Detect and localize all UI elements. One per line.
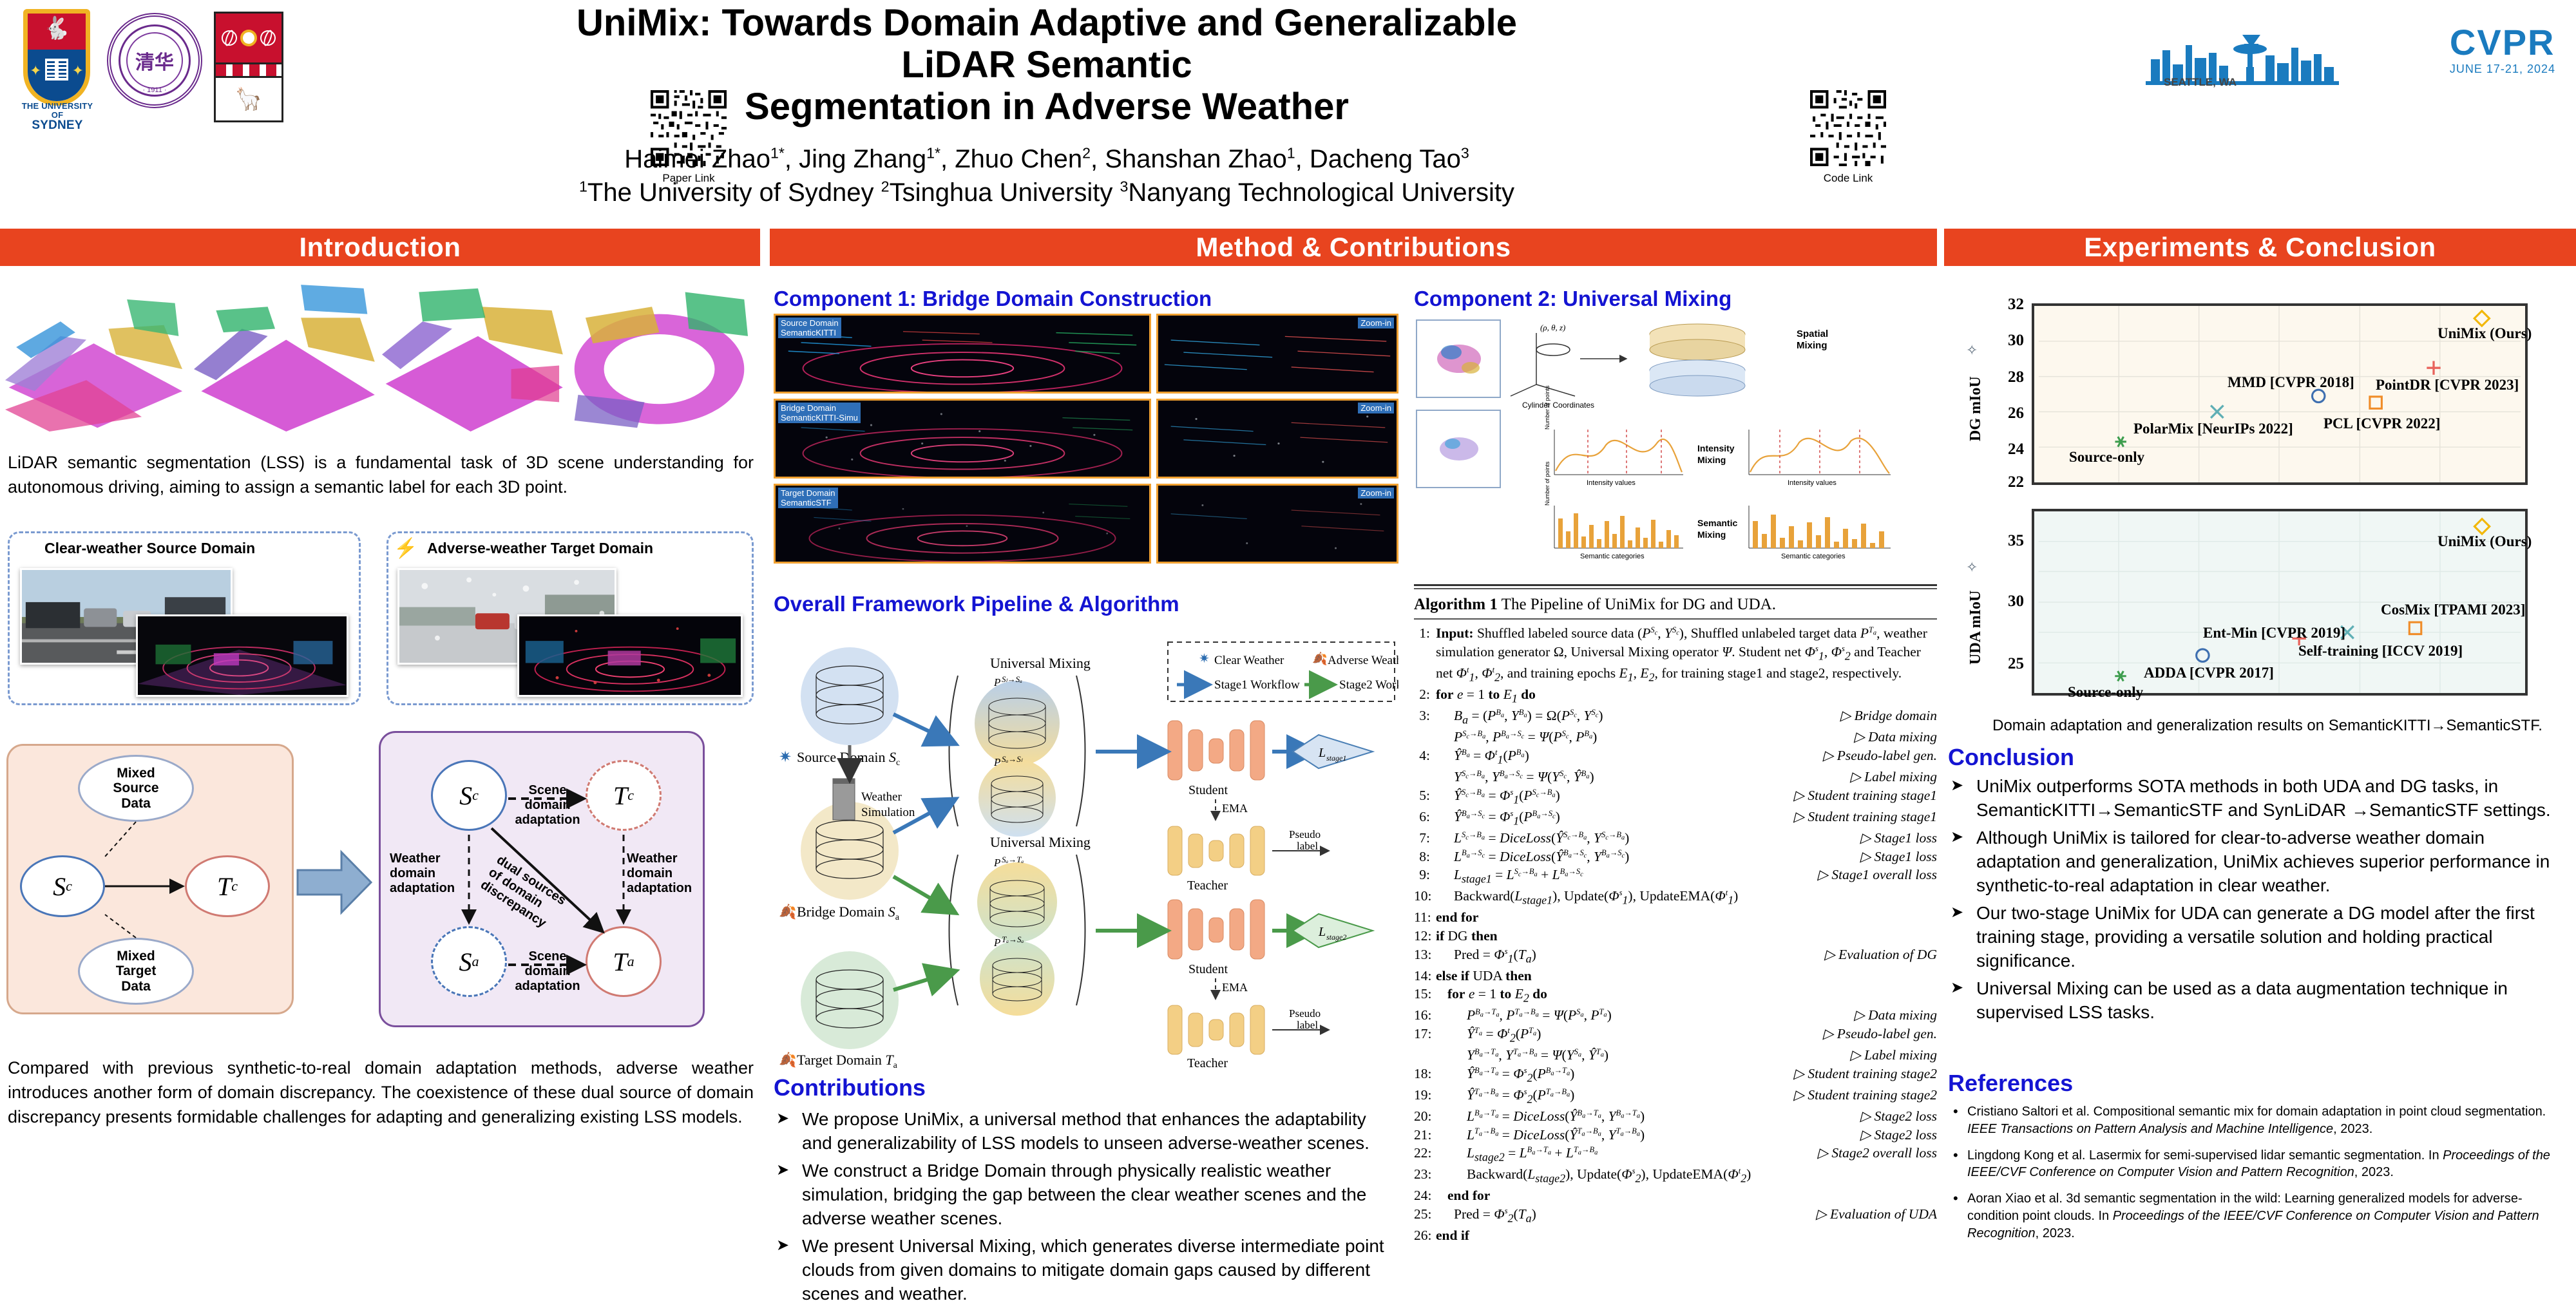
algorithm-line: 25:Pred = Φs2(Ta)▷ Evaluation of UDA bbox=[1414, 1205, 1937, 1226]
uda-ytick-30: 30 bbox=[1990, 593, 2024, 611]
bridge-domain-zoom-tile: Zoom-in bbox=[1156, 399, 1398, 479]
svg-text:🍂: 🍂 bbox=[779, 1052, 796, 1068]
svg-text:Number of points: Number of points bbox=[1544, 461, 1550, 506]
ref-text: Cristiano Saltori et al. Compositional s… bbox=[1967, 1105, 2546, 1119]
svg-text:(ρ, θ, z): (ρ, θ, z) bbox=[1540, 323, 1565, 332]
algorithm-line: 3:Ba = (PBa, YBa) = Ω(PSc, YSc)▷ Bridge … bbox=[1414, 707, 1937, 728]
tsinghua-seal-icon: 清华 bbox=[126, 32, 183, 89]
algorithm-line: 22:Lstage2 = LBa→Ta + LTa→Ba▷ Stage2 ove… bbox=[1414, 1144, 1937, 1165]
cvpr-wordmark: CVPR JUNE 17-21, 2024 bbox=[2450, 24, 2555, 76]
zoom-in-tag-2: Zoom-in bbox=[1358, 403, 1394, 413]
lightning-icon: ⚡ bbox=[394, 537, 417, 560]
svg-text:P: P bbox=[993, 857, 1000, 869]
sydney-shield-icon: 🐇 ✦ ✦ bbox=[23, 9, 90, 106]
pointcloud-strip bbox=[5, 274, 755, 432]
ntu-logo: 🦙 bbox=[214, 12, 283, 122]
sydney-logo-text: THE UNIVERSITY OF SYDNEY bbox=[19, 102, 95, 132]
list-item: Our two-stage UniMix for UDA can generat… bbox=[1948, 902, 2571, 973]
list-item: We propose UniMix, a universal method th… bbox=[774, 1108, 1398, 1155]
svg-text:Universal Mixing: Universal Mixing bbox=[990, 655, 1091, 671]
code-qr-code-icon[interactable] bbox=[1810, 90, 1886, 166]
svg-text:L: L bbox=[1318, 925, 1326, 939]
dual-discrepancy-box: Sc Tc Sa Ta Scene domain adaptation Scen… bbox=[379, 731, 705, 1027]
list-item: Lingdong Kong et al. Lasermix for semi-s… bbox=[1948, 1147, 2571, 1182]
svg-text:P: P bbox=[993, 676, 1000, 688]
right-box-arrows bbox=[381, 733, 707, 1029]
algorithm-line: 24:end for bbox=[1414, 1186, 1937, 1205]
svg-text:Sₐ→Tₐ: Sₐ→Tₐ bbox=[1002, 855, 1024, 864]
dg-label-pointdr: PointDR [CVPR 2023] bbox=[2376, 377, 2519, 394]
list-item: Although UniMix is tailored for clear-to… bbox=[1948, 826, 2571, 898]
list-item: Universal Mixing can be used as a data a… bbox=[1948, 977, 2571, 1025]
pointcloud-sample-1 bbox=[5, 274, 190, 432]
svg-text:Intensity values: Intensity values bbox=[1788, 479, 1837, 487]
banner-method: Method & Contributions bbox=[770, 229, 1937, 266]
algorithm-line: 19:ŶTa→Ba = Φs2(PTa→Ba)▷ Student trainin… bbox=[1414, 1086, 1937, 1107]
algorithm-line: YBa→Ta, YTa→Ba = Ψ(YSa, ŶTa)▷ Label mixi… bbox=[1414, 1046, 1937, 1065]
ntu-crest-icon bbox=[214, 12, 283, 64]
dg-ytick-28: 28 bbox=[1990, 368, 2024, 386]
svg-text:Sₐ→Sₗ: Sₐ→Sₗ bbox=[1002, 754, 1023, 764]
adverse-weather-label: Adverse-weather Target Domain bbox=[427, 540, 653, 557]
svg-text:Weather: Weather bbox=[861, 790, 902, 804]
source-domain-tag: Source DomainSemanticKITTI bbox=[778, 318, 841, 338]
ref-venue: IEEE Transactions on Pattern Analysis an… bbox=[1967, 1122, 2333, 1136]
uda-ytick-25: 25 bbox=[1990, 655, 2024, 673]
ref-year: , 2023. bbox=[2333, 1122, 2372, 1136]
svg-text:Clear Weather: Clear Weather bbox=[1214, 654, 1284, 667]
svg-text:Pseudo: Pseudo bbox=[1289, 828, 1321, 840]
code-qr-caption: Code Link bbox=[1810, 172, 1886, 185]
svg-text:Teacher: Teacher bbox=[1187, 1056, 1228, 1070]
transition-arrow-icon bbox=[296, 847, 372, 918]
tsinghua-year: · 1911 · bbox=[111, 86, 198, 94]
ref-year: , 2023. bbox=[2036, 1226, 2075, 1240]
clear-weather-panel: Clear-weather Source Domain bbox=[8, 531, 361, 705]
algorithm-line: 1: Input: Shuffled labeled source data (… bbox=[1414, 624, 1937, 685]
svg-text:Mixing: Mixing bbox=[1797, 340, 1827, 351]
poster-root: 🐇 ✦ ✦ THE UNIVERSITY OF SYDNEY 清华 · 1911… bbox=[0, 0, 2576, 1288]
algorithm-line: 13:Pred = Φs1(Ta)▷ Evaluation of DG bbox=[1414, 945, 1937, 967]
svg-text:✷: ✷ bbox=[779, 748, 792, 766]
svg-text:Intensity: Intensity bbox=[1697, 443, 1735, 453]
dg-ytick-30: 30 bbox=[1990, 332, 2024, 350]
uda-label-unimix: UniMix (Ours) bbox=[2438, 533, 2532, 550]
algorithm-line: 20:LBa→Ta = DiceLoss(ŶBa→Ta, YBa→Ta)▷ St… bbox=[1414, 1107, 1937, 1126]
framework-pipeline-diagram: Source Domain Sc ✷ Bridge Domain Sa 🍂 Ta… bbox=[774, 625, 1398, 1070]
uda-label-adda: ADDA [CVPR 2017] bbox=[2144, 665, 2274, 681]
svg-text:EMA: EMA bbox=[1222, 981, 1248, 994]
svg-text:Cylinder Coordinates: Cylinder Coordinates bbox=[1522, 401, 1594, 410]
intro-paragraph-1: LiDAR semantic segmentation (LSS) is a f… bbox=[8, 451, 754, 500]
banner-experiments: Experiments & Conclusion bbox=[1944, 229, 2576, 266]
algorithm-line: 2:for e = 1 to E1 do bbox=[1414, 685, 1937, 707]
uda-label-ent-min: Ent-Min [CVPR 2019] bbox=[2203, 625, 2345, 641]
algorithm-box: Algorithm 1 The Pipeline of UniMix for D… bbox=[1414, 584, 1937, 1245]
algorithm-line: 6:ŶBa→Sc = Φs1(PBa→Sc)▷ Student training… bbox=[1414, 808, 1937, 829]
list-item: We present Universal Mixing, which gener… bbox=[774, 1235, 1398, 1306]
svg-text:Sₗ→Sₐ: Sₗ→Sₐ bbox=[1002, 674, 1022, 684]
mixing-diagram: (ρ, θ, z) Cylinder Coordinates Spatial M… bbox=[1414, 314, 1936, 571]
algorithm-line: 12:if DG then bbox=[1414, 927, 1937, 945]
ref-text: Lingdong Kong et al. Lasermix for semi-s… bbox=[1967, 1148, 2443, 1163]
svg-text:Universal Mixing: Universal Mixing bbox=[990, 834, 1091, 850]
pipeline-title: Overall Framework Pipeline & Algorithm bbox=[774, 592, 1179, 616]
clear-photo-lidar bbox=[136, 614, 348, 697]
svg-text:Pseudo: Pseudo bbox=[1289, 1007, 1321, 1020]
zoom-in-tag-3: Zoom-in bbox=[1358, 488, 1394, 498]
svg-text:Number of points: Number of points bbox=[1544, 385, 1550, 430]
adverse-weather-panel: Adverse-weather Target Domain ⚡ bbox=[386, 531, 754, 705]
page-title: UniMix: Towards Domain Adaptive and Gene… bbox=[535, 3, 1559, 128]
domain-discrepancy-diagram: Mixed Source Data Mixed Target Data Sc T… bbox=[6, 725, 754, 1047]
svg-text:Stage1 Workflow: Stage1 Workflow bbox=[1214, 678, 1300, 692]
target-domain-tag: Target DomainSemanticSTF bbox=[778, 488, 838, 508]
svg-text:Mixing: Mixing bbox=[1697, 529, 1726, 540]
contributions-title: Contributions bbox=[774, 1074, 926, 1101]
list-item: Aoran Xiao et al. 3d semantic segmentati… bbox=[1948, 1190, 2571, 1242]
author-list: Haimei Zhao1*, Jing Zhang1*, Zhuo Chen2,… bbox=[535, 144, 1559, 175]
algorithm-line: 5:ŶSc→Ba = Φs1(PSc→Ba)▷ Student training… bbox=[1414, 786, 1937, 808]
conclusion-list: UniMix outperforms SOTA methods in both … bbox=[1948, 775, 2571, 1029]
uda-label-cosmix: CosMix [TPAMI 2023] bbox=[2381, 602, 2525, 618]
algorithm-line: PSc→Ba, PBa→Sc = Ψ(PSc, PBa)▷ Data mixin… bbox=[1414, 728, 1937, 746]
uda-y-axis-label: UDA mIoU bbox=[1967, 591, 1985, 665]
column-method: Component 1: Bridge Domain Construction … bbox=[770, 274, 1937, 1288]
zoom-in-tag-1: Zoom-in bbox=[1358, 318, 1394, 328]
svg-text:Intensity values: Intensity values bbox=[1587, 479, 1636, 487]
svg-text:EMA: EMA bbox=[1222, 802, 1248, 815]
code-qr-block[interactable]: Code Link bbox=[1810, 90, 1886, 185]
cvpr-city: SEATTLE, WA bbox=[2164, 76, 2237, 89]
algorithm-line: 15:for e = 1 to E2 do bbox=[1414, 985, 1937, 1006]
algorithm-line: 21:LTa→Ba = DiceLoss(ŶTa→Ba, YTa→Ba)▷ St… bbox=[1414, 1126, 1937, 1144]
svg-text:L: L bbox=[1318, 746, 1326, 760]
pointcloud-sample-2 bbox=[194, 274, 379, 432]
sydney-logo: 🐇 ✦ ✦ THE UNIVERSITY OF SYDNEY bbox=[19, 5, 95, 128]
algorithm-title: Algorithm 1 The Pipeline of UniMix for D… bbox=[1414, 594, 1937, 615]
clear-weather-label: Clear-weather Source Domain bbox=[44, 540, 255, 557]
previous-setting-box: Mixed Source Data Mixed Target Data Sc T… bbox=[6, 744, 294, 1014]
svg-text:stage1: stage1 bbox=[1326, 754, 1346, 763]
logo-group: 🐇 ✦ ✦ THE UNIVERSITY OF SYDNEY 清华 · 1911… bbox=[19, 5, 283, 128]
pointcloud-sample-3 bbox=[382, 274, 567, 432]
svg-text:Student: Student bbox=[1188, 962, 1228, 976]
svg-text:P: P bbox=[993, 936, 1000, 949]
intro-paragraph-2: Compared with previous synthetic-to-real… bbox=[8, 1056, 754, 1129]
algorithm-line: 23:Backward(Lstage2), Update(Φs2), Updat… bbox=[1414, 1165, 1937, 1186]
svg-text:Tₐ→Sₐ: Tₐ→Sₐ bbox=[1002, 935, 1024, 944]
dg-label-source-only: Source-only bbox=[2069, 449, 2144, 466]
dg-plot-area: Source-only PolarMix [NeurIPs 2022] MMD … bbox=[2032, 303, 2528, 485]
list-item: Cristiano Saltori et al. Compositional s… bbox=[1948, 1103, 2571, 1138]
dg-ytick-26: 26 bbox=[1990, 404, 2024, 422]
algorithm-line: 26:end if bbox=[1414, 1226, 1937, 1245]
bridge-domain-image-grid: Source DomainSemanticKITTI Zoom-in bbox=[774, 314, 1398, 571]
dg-chart: DG mIoU ✧ bbox=[1944, 280, 2576, 493]
svg-text:Student: Student bbox=[1188, 783, 1228, 797]
universal-mixing-schematic: (ρ, θ, z) Cylinder Coordinates Spatial M… bbox=[1414, 314, 1936, 571]
algorithm-line: 10:Backward(Lstage1), Update(Φs1), Updat… bbox=[1414, 887, 1937, 908]
left-box-arrows bbox=[8, 746, 296, 1016]
svg-text:P: P bbox=[993, 756, 1000, 768]
title-block: UniMix: Towards Domain Adaptive and Gene… bbox=[535, 3, 1559, 208]
svg-text:Adverse Weather: Adverse Weather bbox=[1328, 654, 1398, 667]
svg-text:Spatial: Spatial bbox=[1797, 328, 1828, 339]
list-item: UniMix outperforms SOTA methods in both … bbox=[1948, 775, 2571, 822]
tsinghua-logo: 清华 · 1911 · bbox=[107, 13, 202, 108]
svg-text:Simulation: Simulation bbox=[861, 806, 915, 819]
cvpr-logo: CVPR JUNE 17-21, 2024 SEATTLE, WA bbox=[2146, 22, 2558, 93]
star-icon: ✧ bbox=[1966, 342, 1978, 359]
uda-label-source-only: Source-only bbox=[2068, 684, 2143, 701]
svg-text:Semantic: Semantic bbox=[1697, 518, 1737, 528]
svg-text:Stage2 Workflow: Stage2 Workflow bbox=[1339, 678, 1398, 692]
dg-label-pcl: PCL [CVPR 2022] bbox=[2323, 415, 2440, 432]
dg-y-axis-label: DG mIoU bbox=[1967, 376, 1985, 441]
algorithm-line: 14:else if UDA then bbox=[1414, 967, 1937, 985]
uda-plot-area: Source-only ADDA [CVPR 2017] Ent-Min [CV… bbox=[2032, 509, 2528, 696]
source-domain-tile: Source DomainSemanticKITTI bbox=[774, 314, 1151, 394]
column-introduction: LiDAR semantic segmentation (LSS) is a f… bbox=[0, 274, 760, 1288]
algorithm-line: 8:LBa→Sc = DiceLoss(ŶBa→Sc, YBa→Sc)▷ Sta… bbox=[1414, 848, 1937, 866]
dg-ytick-32: 32 bbox=[1990, 296, 2024, 314]
uda-chart: UDA mIoU ✧ bbox=[1944, 502, 2576, 708]
ref-year: , 2023. bbox=[2354, 1165, 2394, 1179]
banner-introduction: Introduction bbox=[0, 229, 760, 266]
pointcloud-sample-4 bbox=[571, 274, 756, 432]
algorithm-line: 11:end for bbox=[1414, 908, 1937, 927]
column-experiments: DG mIoU ✧ bbox=[1944, 274, 2576, 1288]
component2-title: Component 2: Universal Mixing bbox=[1414, 287, 1732, 311]
svg-text:Semantic categories: Semantic categories bbox=[1580, 553, 1645, 560]
bridge-domain-tag: Bridge DomainSemanticKITTI-Simu bbox=[778, 403, 861, 423]
svg-text:Target Domain Ta: Target Domain Ta bbox=[797, 1052, 898, 1070]
cvpr-dates: JUNE 17-21, 2024 bbox=[2450, 62, 2555, 76]
dg-ytick-22: 22 bbox=[1990, 473, 2024, 491]
uda-ytick-35: 35 bbox=[1990, 532, 2024, 550]
svg-text:stage2: stage2 bbox=[1326, 933, 1346, 942]
svg-text:label: label bbox=[1297, 840, 1318, 852]
target-domain-tile: Target DomainSemanticSTF bbox=[774, 484, 1151, 564]
svg-text:label: label bbox=[1297, 1019, 1318, 1031]
svg-text:✷: ✷ bbox=[1199, 652, 1210, 666]
dg-label-unimix: UniMix (Ours) bbox=[2438, 325, 2532, 342]
references-list: Cristiano Saltori et al. Compositional s… bbox=[1948, 1103, 2571, 1251]
algorithm-lines: 1: Input: Shuffled labeled source data (… bbox=[1414, 624, 1937, 1244]
poster-header: 🐇 ✦ ✦ THE UNIVERSITY OF SYDNEY 清华 · 1911… bbox=[0, 0, 2576, 222]
adverse-photo-lidar bbox=[517, 614, 743, 697]
cvpr-name: CVPR bbox=[2450, 24, 2555, 61]
dg-label-mmd: MMD [CVPR 2018] bbox=[2228, 374, 2354, 391]
svg-text:🍂: 🍂 bbox=[1312, 651, 1328, 666]
svg-text:Bridge Domain Sa: Bridge Domain Sa bbox=[797, 904, 900, 922]
algorithm-line: 7:LSc→Ba = DiceLoss(ŶSc→Ba, YSc→Ba)▷ Sta… bbox=[1414, 829, 1937, 848]
algorithm-line: 17:ŶTa = Φt2(PTa)▷ Pseudo-label gen. bbox=[1414, 1025, 1937, 1046]
affiliation-list: 1The University of Sydney 2Tsinghua Univ… bbox=[535, 177, 1559, 208]
algorithm-line: 18:ŶBa→Ta = Φs2(PBa→Ta)▷ Student trainin… bbox=[1414, 1065, 1937, 1086]
component1-title: Component 1: Bridge Domain Construction bbox=[774, 287, 1212, 311]
svg-text:Teacher: Teacher bbox=[1187, 878, 1228, 893]
list-item: We construct a Bridge Domain through phy… bbox=[774, 1159, 1398, 1231]
algorithm-line: 16:PBa→Ta, PTa→Ba = Ψ(PSa, PTa)▷ Data mi… bbox=[1414, 1006, 1937, 1025]
algorithm-line: 9:Lstage1 = LSc→Ba + LBa→Sc▷ Stage1 over… bbox=[1414, 866, 1937, 887]
star-icon-2: ✧ bbox=[1966, 559, 1978, 576]
bridge-domain-tile: Bridge DomainSemanticKITTI-Simu bbox=[774, 399, 1151, 479]
chart-caption: Domain adaptation and generalization res… bbox=[1965, 717, 2570, 735]
svg-text:Mixing: Mixing bbox=[1697, 455, 1726, 465]
contributions-list: We propose UniMix, a universal method th… bbox=[774, 1108, 1398, 1310]
references-title: References bbox=[1948, 1070, 2073, 1097]
algorithm-line: 4:ŶBa = Φt1(PBa)▷ Pseudo-label gen. bbox=[1414, 746, 1937, 768]
svg-text:🍂: 🍂 bbox=[779, 904, 796, 920]
dg-ytick-24: 24 bbox=[1990, 441, 2024, 459]
uda-label-self-training: Self-training [ICCV 2019] bbox=[2298, 643, 2463, 660]
target-domain-zoom-tile: Zoom-in bbox=[1156, 484, 1398, 564]
source-domain-zoom-tile: Zoom-in bbox=[1156, 314, 1398, 394]
algorithm-line: YSc→Ba, YBa→Sc = Ψ(YSc, ŶBa)▷ Label mixi… bbox=[1414, 768, 1937, 786]
conclusion-title: Conclusion bbox=[1948, 744, 2074, 771]
svg-text:Semantic categories: Semantic categories bbox=[1781, 553, 1846, 560]
dg-label-polarmix: PolarMix [NeurIPs 2022] bbox=[2133, 421, 2293, 437]
